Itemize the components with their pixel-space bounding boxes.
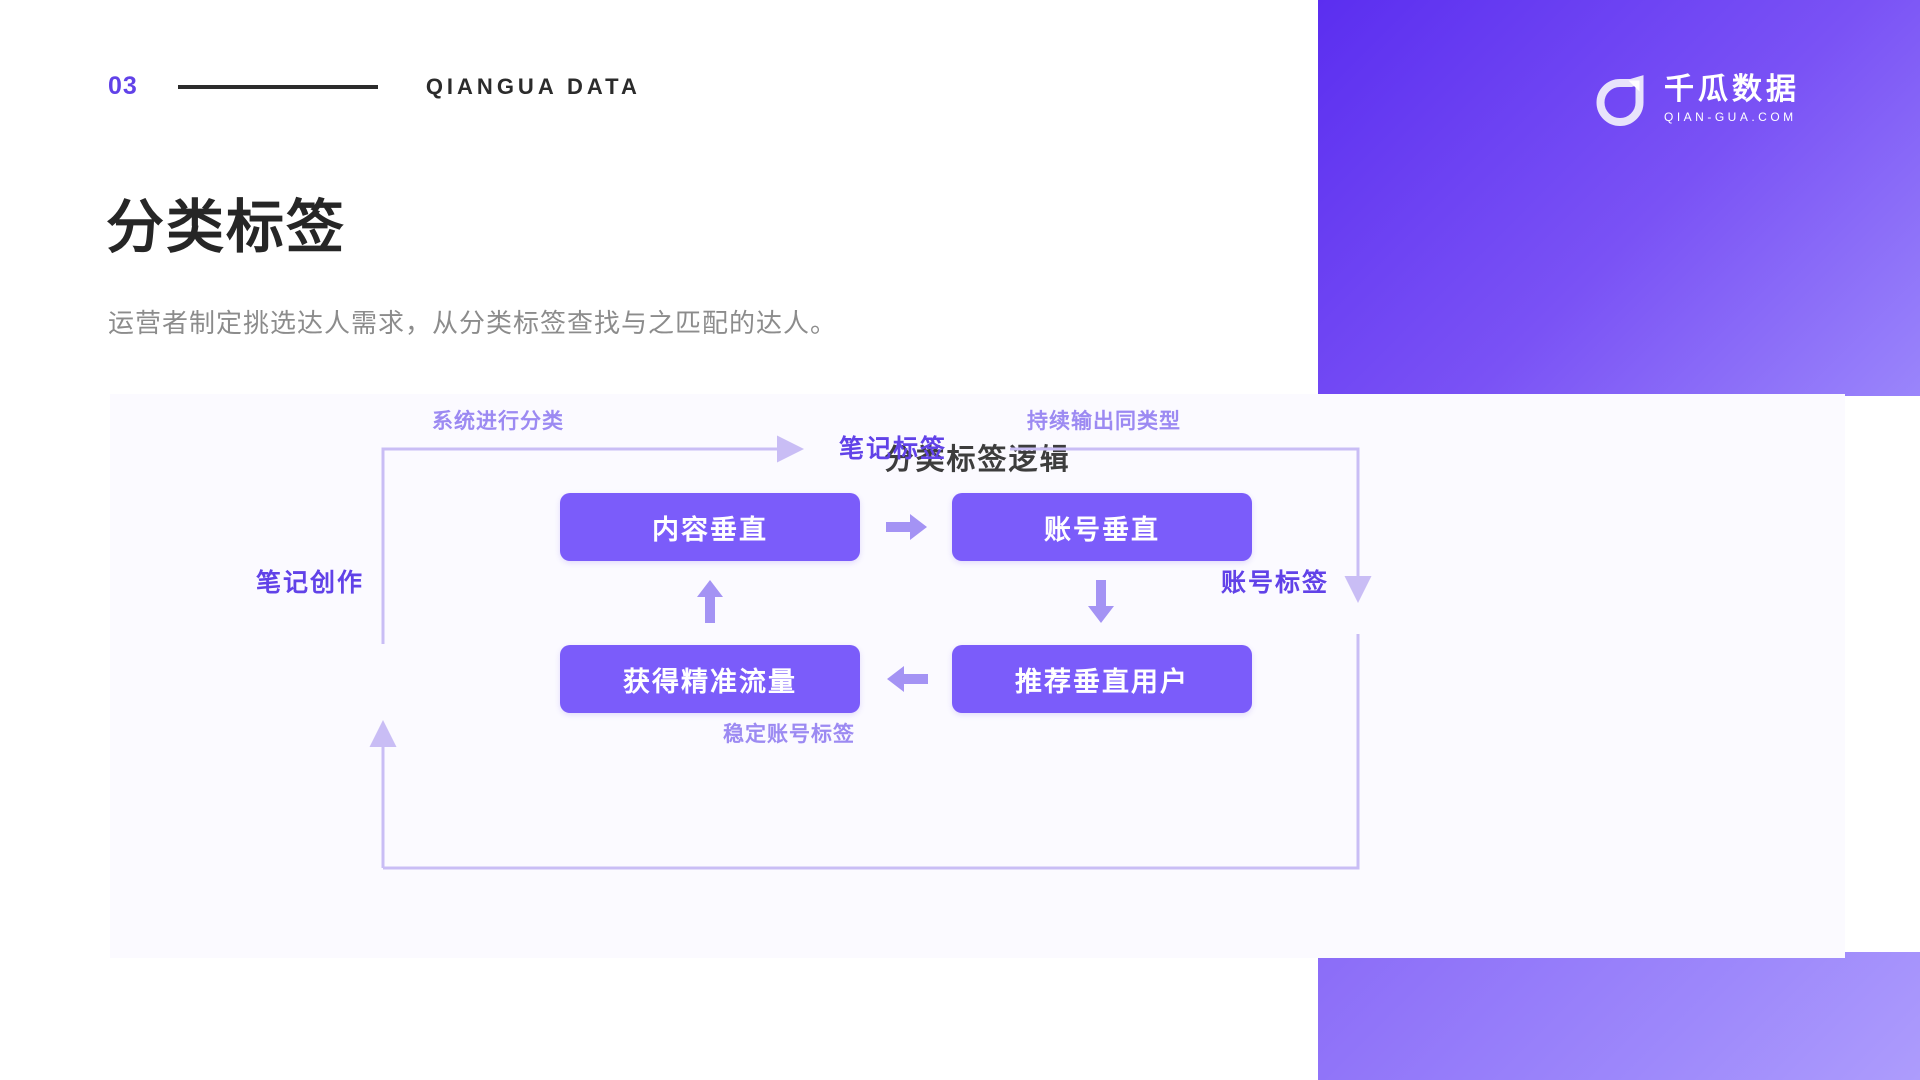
node-label: 内容垂直	[652, 508, 768, 547]
eyebrow-rule-divider	[178, 85, 378, 89]
logo-name-cn: 千瓜数据	[1664, 74, 1800, 106]
qiangua-circle-logo-icon	[1592, 72, 1648, 128]
node-label: 账号垂直	[1044, 508, 1160, 547]
logo-wordmark: 千瓜数据 QIAN-GUA.COM	[1664, 74, 1800, 125]
page-title: 分类标签	[106, 196, 346, 260]
section-eyebrow: 03 QIANGUA DATA	[108, 74, 641, 99]
node-account-vertical[interactable]: 账号垂直	[952, 493, 1252, 561]
edge-label-system-classify: 系统进行分类	[432, 405, 564, 435]
node-label: 获得精准流量	[623, 660, 797, 699]
brand-label: QIANGUA DATA	[426, 76, 641, 98]
edge-label-continuous-output: 持续输出同类型	[1027, 405, 1181, 435]
node-content-vertical[interactable]: 内容垂直	[560, 493, 860, 561]
slide-root: 03 QIANGUA DATA 千瓜数据 QIAN-GUA.COM 分类标签 运…	[0, 0, 1920, 1080]
node-precise-traffic[interactable]: 获得精准流量	[560, 645, 860, 713]
diagram-panel: 分类标签逻辑	[110, 394, 1845, 958]
section-number: 03	[108, 74, 138, 99]
stage-label-note-create: 笔记创作	[256, 563, 364, 599]
decorative-purple-block-top	[1318, 0, 1920, 396]
brand-logo: 千瓜数据 QIAN-GUA.COM	[1592, 72, 1800, 128]
node-label: 推荐垂直用户	[1015, 660, 1189, 699]
stage-label-account-tag: 账号标签	[1221, 563, 1329, 599]
page-subtitle: 运营者制定挑选达人需求，从分类标签查找与之匹配的达人。	[108, 305, 837, 341]
stage-label-note-tag: 笔记标签	[839, 429, 947, 465]
classification-flow-diagram: 内容垂直 账号垂直 获得精准流量 推荐垂直用户	[110, 394, 1845, 958]
node-recommend-vertical-users[interactable]: 推荐垂直用户	[952, 645, 1252, 713]
decorative-purple-block-bottom	[1318, 952, 1920, 1080]
logo-name-en: QIAN-GUA.COM	[1664, 109, 1797, 126]
edge-label-stable-account-tag: 稳定账号标签	[723, 718, 855, 748]
